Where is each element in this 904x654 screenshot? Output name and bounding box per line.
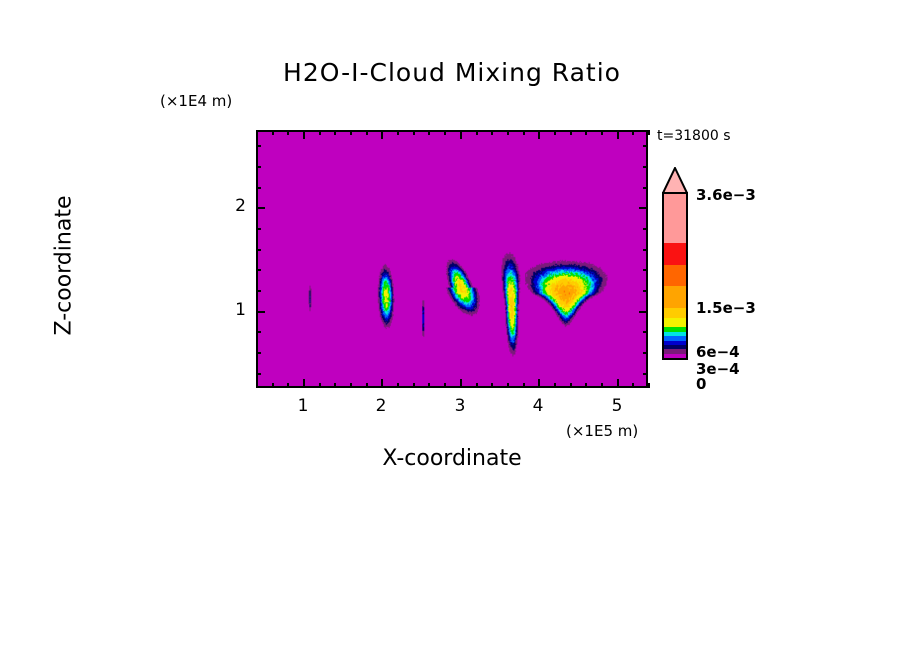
colorbar-band bbox=[664, 243, 686, 265]
colorbar-band bbox=[664, 286, 686, 308]
x-tick-label-1: 1 bbox=[288, 396, 318, 416]
colorbar: 3.6e−31.5e−36e−43e−40 bbox=[662, 167, 782, 392]
x-axis-title: X-coordinate bbox=[256, 446, 648, 471]
y-tick-label-1: 1 bbox=[222, 300, 246, 320]
colorbar-band bbox=[664, 354, 686, 358]
colorbar-label-0: 3.6e−3 bbox=[696, 186, 756, 204]
colorbar-label-1: 1.5e−3 bbox=[696, 299, 756, 317]
page-title: H2O-I-Cloud Mixing Ratio bbox=[0, 58, 904, 87]
colorbar-band bbox=[664, 194, 686, 243]
heatmap-field bbox=[258, 132, 646, 386]
tick-mark bbox=[648, 383, 650, 388]
colorbar-band bbox=[664, 318, 686, 328]
x-axis-unit-label: (×1E5 m) bbox=[566, 422, 638, 440]
x-tick-label-4: 4 bbox=[523, 396, 553, 416]
y-axis-title: Z-coordinate bbox=[52, 136, 77, 396]
y-axis-unit-label: (×1E4 m) bbox=[160, 92, 232, 110]
x-tick-label-2: 2 bbox=[366, 396, 396, 416]
y-tick-label-2: 2 bbox=[222, 196, 246, 216]
x-tick-label-3: 3 bbox=[445, 396, 475, 416]
colorbar-bands bbox=[662, 192, 688, 360]
colorbar-band bbox=[664, 308, 686, 318]
x-tick-label-5: 5 bbox=[602, 396, 632, 416]
colorbar-label-2: 6e−4 bbox=[696, 343, 740, 361]
plot-area bbox=[256, 130, 648, 388]
colorbar-band bbox=[664, 265, 686, 287]
colorbar-arrow-icon bbox=[662, 167, 688, 193]
colorbar-label-4: 0 bbox=[696, 375, 706, 393]
tick-mark bbox=[648, 130, 650, 135]
time-annotation: t=31800 s bbox=[657, 128, 731, 144]
